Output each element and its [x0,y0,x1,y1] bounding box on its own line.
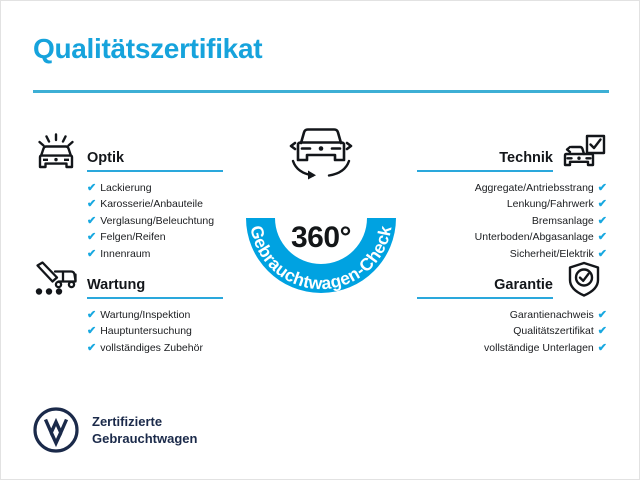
section-technik: Technik Aggregate/Antriebsstrang✔ Lenkun… [417,131,607,262]
vw-logo-icon [33,407,79,453]
list-item: ✔Felgen/Reifen [33,229,223,245]
check-icon: ✔ [598,325,607,337]
title-divider [33,90,609,93]
car-front-rotate-icon [283,123,359,185]
list-item-label: vollständiges Zubehör [100,342,203,354]
shield-check-icon [561,260,607,300]
section-garantie-list: Garantienachweis✔ Qualitätszertifikat✔ v… [417,302,607,356]
check-icon: ✔ [598,182,607,194]
page-title: Qualitätszertifikat [33,33,262,65]
list-item-label: Bremsanlage [532,215,594,227]
360-label: 360° [228,221,414,255]
list-item-label: Hauptuntersuchung [100,325,192,337]
section-wartung: Wartung ✔Wartung/Inspektion ✔Hauptunters… [33,258,223,356]
section-optik: Optik ✔Lackierung ✔Karosserie/Anbauteile… [33,131,223,262]
check-icon: ✔ [87,182,96,194]
section-technik-header: Technik [417,131,607,175]
list-item-label: Qualitätszertifikat [513,325,594,337]
list-item: Unterboden/Abgasanlage✔ [417,229,607,245]
section-optik-title: Optik [87,150,124,166]
list-item-label: Verglasung/Beleuchtung [100,215,214,227]
list-item-label: Felgen/Reifen [100,231,165,243]
section-garantie-underline [417,297,553,299]
check-icon: ✔ [598,309,607,321]
section-technik-underline [417,170,553,172]
check-icon: ✔ [87,342,96,354]
qualitaetszertifikat-page: Qualitätszertifikat [0,0,640,480]
car-shine-icon [33,133,79,173]
footer-line-2: Gebrauchtwagen [92,430,197,447]
list-item-label: vollständige Unterlagen [484,342,594,354]
list-item: Garantienachweis✔ [417,307,607,323]
car-checkbox-icon [561,133,607,173]
section-garantie-header: Garantie [417,258,607,302]
section-wartung-list: ✔Wartung/Inspektion ✔Hauptuntersuchung ✔… [33,302,223,356]
check-icon: ✔ [87,231,96,243]
check-icon: ✔ [598,342,607,354]
check-icon: ✔ [87,215,96,227]
check-icon: ✔ [598,198,607,210]
list-item-label: Karosserie/Anbauteile [100,198,203,210]
section-wartung-title: Wartung [87,277,145,293]
list-item: Qualitätszertifikat✔ [417,323,607,339]
list-item: ✔Hauptuntersuchung [33,323,223,339]
list-item: Lenkung/Fahrwerk✔ [417,196,607,212]
list-item-label: Lenkung/Fahrwerk [507,198,594,210]
list-item-label: Lackierung [100,182,151,194]
check-icon: ✔ [87,309,96,321]
section-optik-underline [87,170,223,172]
section-wartung-underline [87,297,223,299]
list-item-label: Aggregate/Antriebsstrang [475,182,594,194]
list-item-label: Garantienachweis [510,309,594,321]
list-item: ✔Wartung/Inspektion [33,307,223,323]
360-badge: Gebrauchtwagen-Check [228,125,414,311]
check-icon: ✔ [598,215,607,227]
list-item: ✔Lackierung [33,180,223,196]
section-technik-list: Aggregate/Antriebsstrang✔ Lenkung/Fahrwe… [417,175,607,262]
list-item: ✔Karosserie/Anbauteile [33,196,223,212]
list-item-label: Wartung/Inspektion [100,309,190,321]
check-icon: ✔ [598,231,607,243]
list-item: vollständige Unterlagen✔ [417,340,607,356]
list-item-label: Unterboden/Abgasanlage [475,231,594,243]
section-wartung-header: Wartung [33,258,223,302]
list-item: ✔vollständiges Zubehör [33,340,223,356]
footer-line-1: Zertifizierte [92,413,197,430]
check-icon: ✔ [87,198,96,210]
check-icon: ✔ [87,325,96,337]
footer-brand: Zertifizierte Gebrauchtwagen [33,407,197,453]
section-garantie: Garantie Garantienachweis✔ Qualitätszert… [417,258,607,356]
list-item: Bremsanlage✔ [417,213,607,229]
list-item: ✔Verglasung/Beleuchtung [33,213,223,229]
footer-text: Zertifizierte Gebrauchtwagen [92,413,197,447]
section-optik-header: Optik [33,131,223,175]
list-item: Aggregate/Antriebsstrang✔ [417,180,607,196]
section-garantie-title: Garantie [494,277,553,293]
section-technik-title: Technik [499,150,553,166]
section-optik-list: ✔Lackierung ✔Karosserie/Anbauteile ✔Verg… [33,175,223,262]
wrench-car-icon [33,260,79,300]
